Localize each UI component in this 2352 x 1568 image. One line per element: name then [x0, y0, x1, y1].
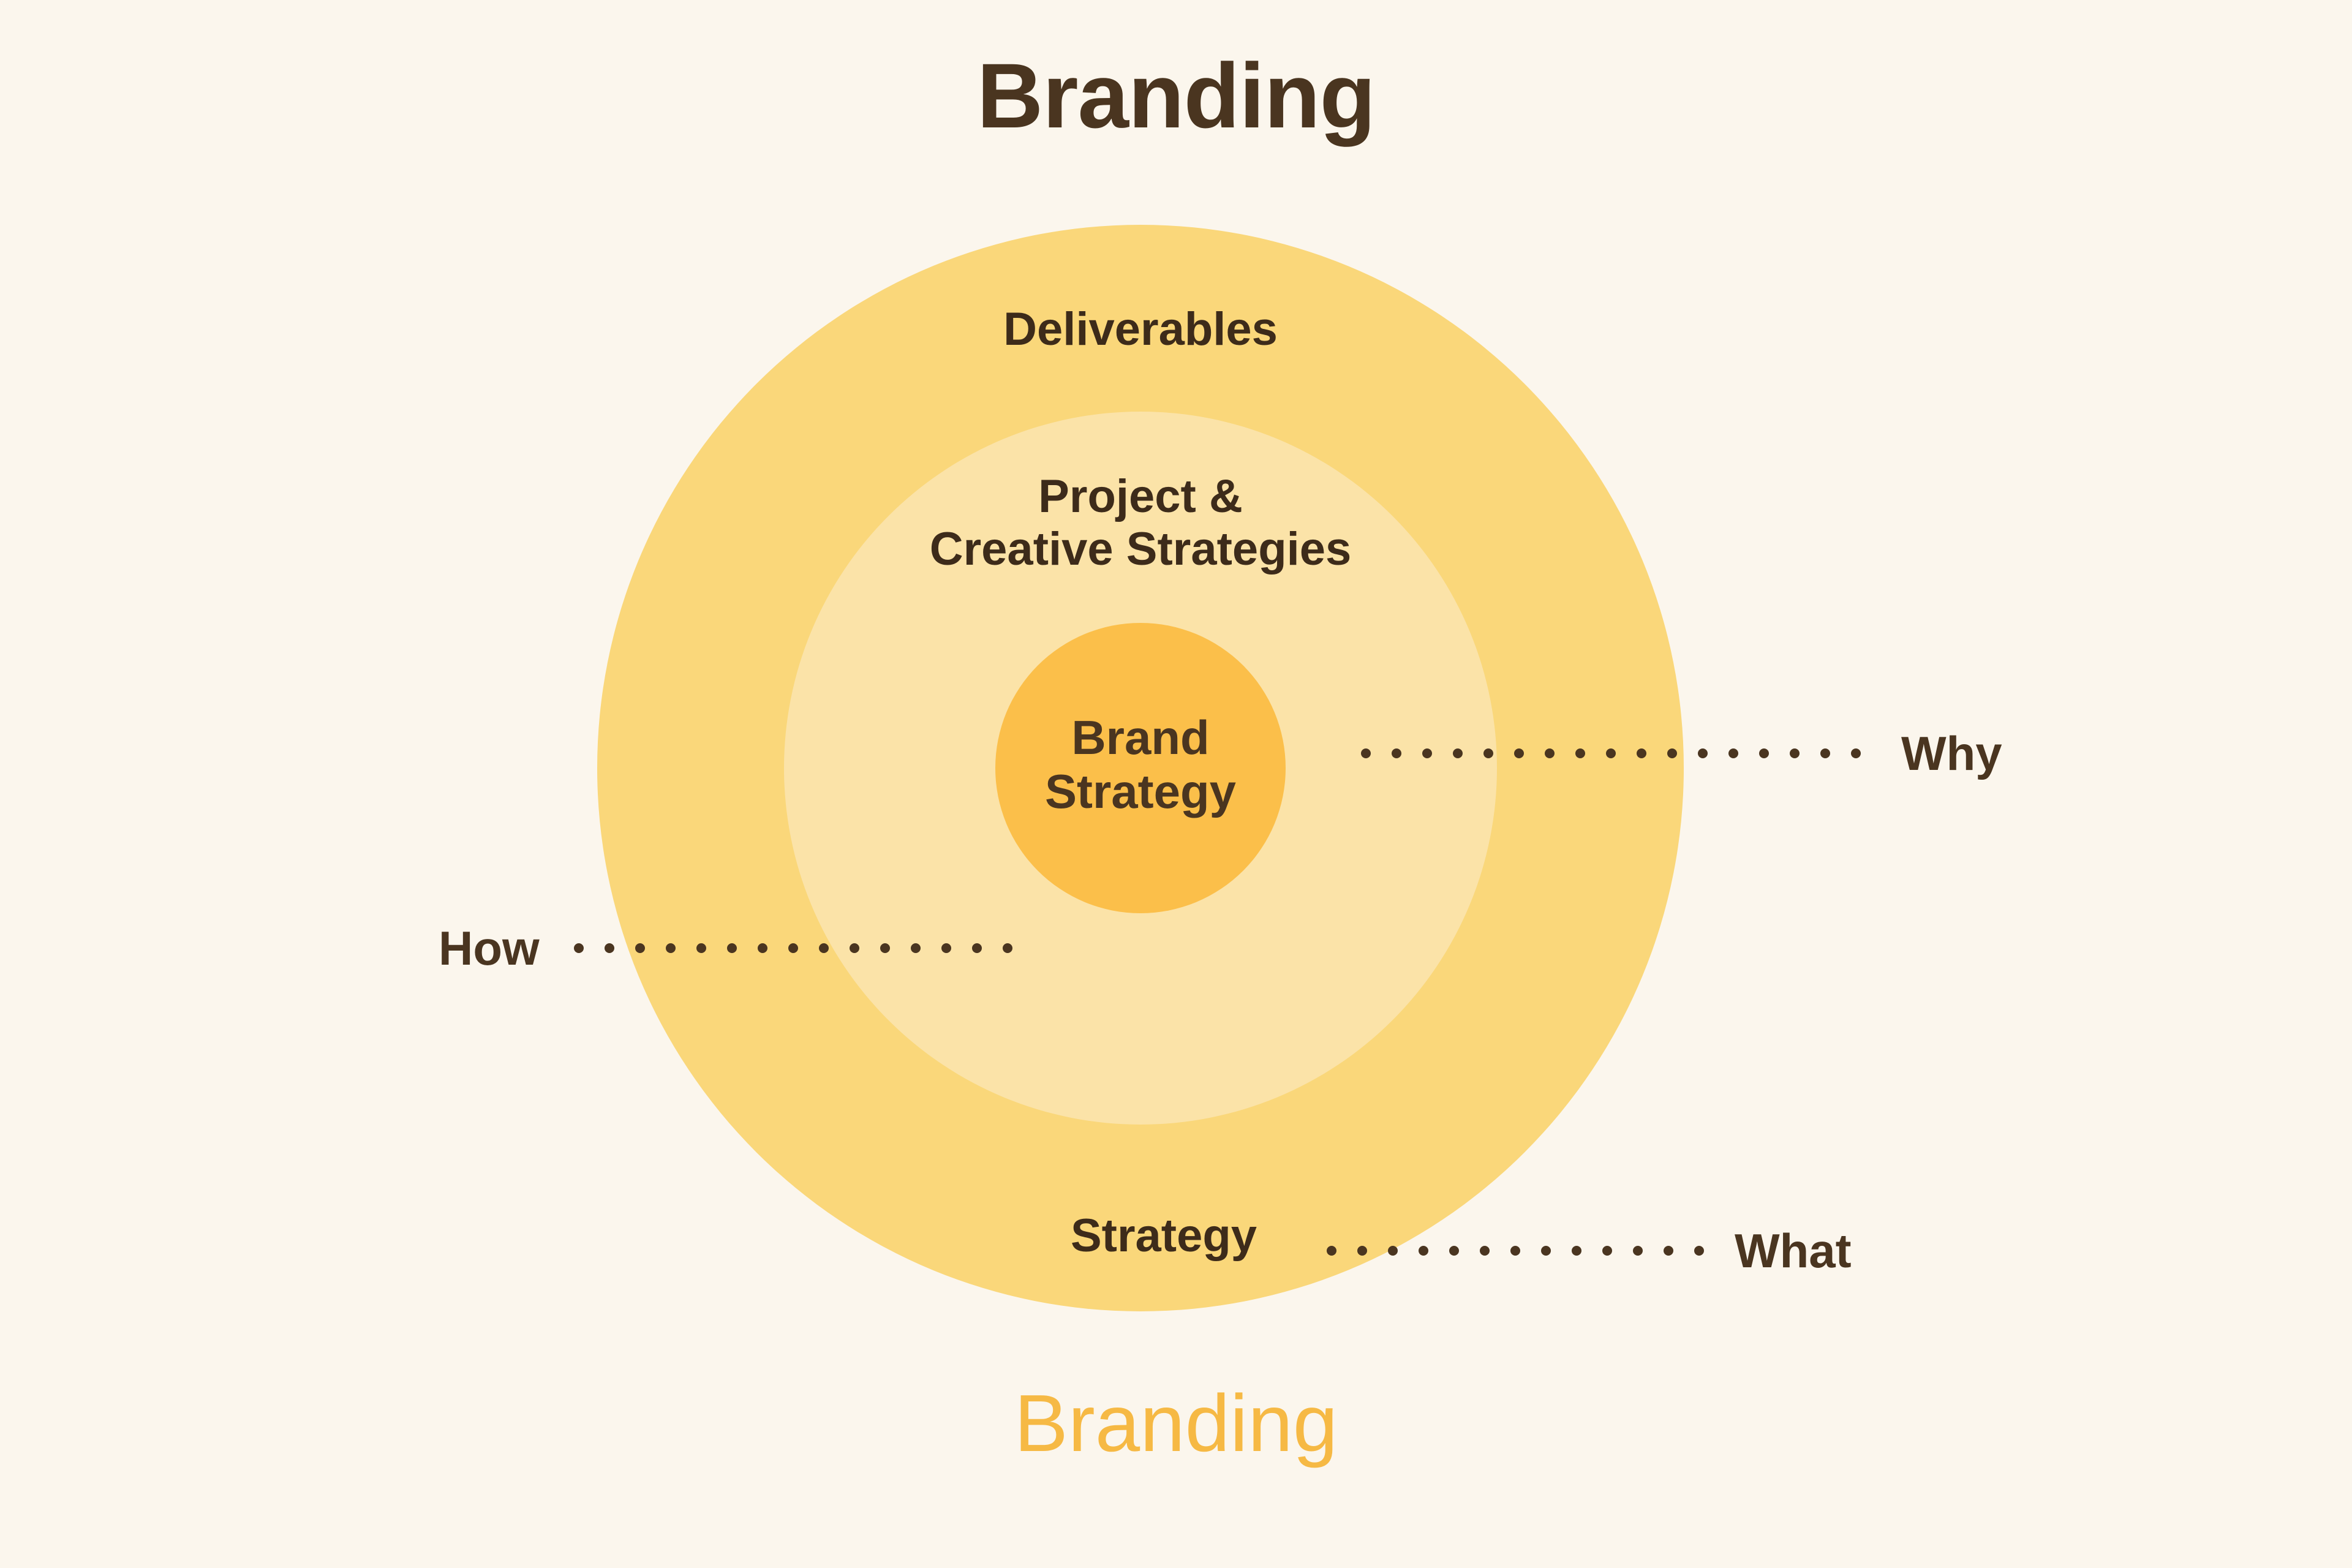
connector-dot	[635, 943, 645, 953]
connector-dot	[1790, 748, 1800, 758]
connector-dot	[1633, 1246, 1643, 1256]
inner-circle-label: Brand Strategy	[968, 710, 1313, 818]
connector-dot	[1664, 1246, 1673, 1256]
page-title: Branding	[0, 48, 2352, 145]
connector-dot	[727, 943, 737, 953]
connector-dot	[819, 943, 829, 953]
dotted-connector-what	[1327, 1220, 1704, 1281]
connector-dot	[1728, 748, 1738, 758]
footer-caption: Branding	[0, 1381, 2352, 1466]
callout-how-label: How	[439, 924, 540, 972]
connector-dot	[1327, 1246, 1336, 1256]
connector-dot	[788, 943, 798, 953]
connector-dot	[605, 943, 614, 953]
connector-dot	[696, 943, 706, 953]
connector-dot	[1392, 748, 1401, 758]
connector-dot	[1820, 748, 1830, 758]
connector-dot	[1388, 1246, 1398, 1256]
connector-dot	[1759, 748, 1769, 758]
connector-dot	[666, 943, 676, 953]
callout-why-label: Why	[1901, 729, 2002, 777]
connector-dot	[1480, 1246, 1490, 1256]
connector-dot	[1422, 748, 1432, 758]
connector-dot	[1637, 748, 1646, 758]
connector-dot	[850, 943, 859, 953]
connector-dot	[1514, 748, 1524, 758]
callout-why: Why	[1361, 723, 2002, 784]
connector-dot	[1357, 1246, 1367, 1256]
connector-dot	[758, 943, 767, 953]
connector-dot	[1572, 1246, 1581, 1256]
connector-dot	[1606, 748, 1616, 758]
connector-dot	[1694, 1246, 1704, 1256]
callout-what-label: What	[1735, 1227, 1852, 1275]
dotted-connector-why	[1361, 723, 1861, 784]
connector-dot	[1003, 943, 1012, 953]
connector-dot	[1602, 1246, 1612, 1256]
callout-what: What	[1327, 1220, 1852, 1281]
dotted-connector-how	[574, 918, 1012, 979]
connector-dot	[1419, 1246, 1428, 1256]
connector-dot	[941, 943, 951, 953]
connector-dot	[1851, 748, 1861, 758]
connector-dot	[972, 943, 982, 953]
callout-how: How	[439, 918, 1012, 979]
connector-dot	[880, 943, 890, 953]
connector-dot	[1545, 748, 1555, 758]
connector-dot	[1541, 1246, 1551, 1256]
connector-dot	[1483, 748, 1493, 758]
connector-dot	[1453, 748, 1463, 758]
connector-dot	[1510, 1246, 1520, 1256]
connector-dot	[574, 943, 584, 953]
diagram-canvas: Branding Deliverables Project & Creative…	[0, 0, 2352, 1568]
connector-dot	[1449, 1246, 1459, 1256]
connector-dot	[1698, 748, 1708, 758]
connector-dot	[1667, 748, 1677, 758]
outer-ring-label: Deliverables	[773, 303, 1508, 356]
connector-dot	[1361, 748, 1371, 758]
strategy-annotation-label: Strategy	[974, 1210, 1354, 1262]
connector-dot	[911, 943, 921, 953]
middle-ring-label: Project & Creative Strategies	[742, 470, 1539, 576]
connector-dot	[1575, 748, 1585, 758]
